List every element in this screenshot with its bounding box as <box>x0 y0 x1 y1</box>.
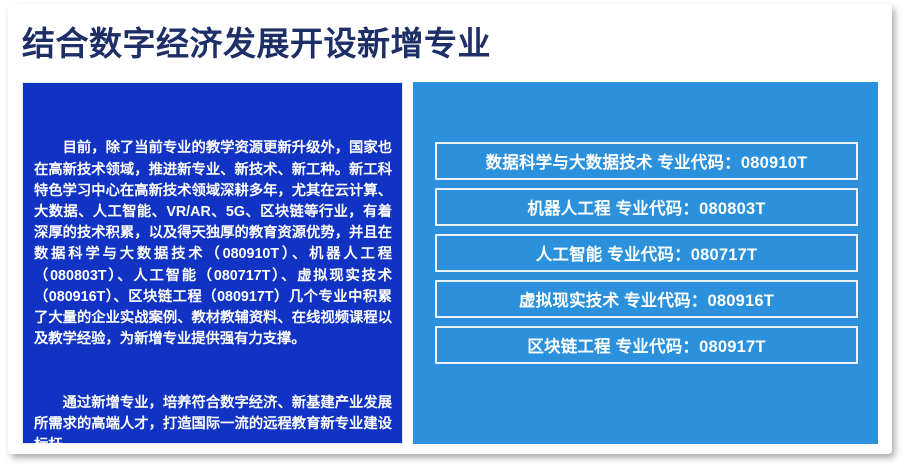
list-item[interactable]: 数据科学与大数据技术 专业代码：080910T <box>435 142 858 180</box>
description-paragraph-1: 目前，除了当前专业的教学资源更新升级外，国家也在高新技术领域，推进新专业、新技术… <box>34 138 392 350</box>
major-item-text: 区块链工程 专业代码：080917T <box>527 333 765 357</box>
list-item[interactable]: 虚拟现实技术 专业代码：080916T <box>435 280 858 318</box>
list-item[interactable]: 人工智能 专业代码：080717T <box>435 234 858 272</box>
major-item-text: 人工智能 专业代码：080717T <box>536 241 758 265</box>
left-description-text: 目前，除了当前专业的教学资源更新升级外，国家也在高新技术领域，推进新专业、新技术… <box>34 96 392 454</box>
page-title: 结合数字经济发展开设新增专业 <box>22 21 742 67</box>
major-item-text: 机器人工程 专业代码：080803T <box>527 195 765 219</box>
major-item-text: 虚拟现实技术 专业代码：080916T <box>519 287 774 311</box>
left-description-panel: 目前，除了当前专业的教学资源更新升级外，国家也在高新技术领域，推进新专业、新技术… <box>22 82 403 444</box>
description-paragraph-2: 通过新增专业，培养符合数字经济、新基建产业发展所需求的高端人才，打造国际一流的远… <box>34 393 392 454</box>
right-major-panel: 数据科学与大数据技术 专业代码：080910T 机器人工程 专业代码：08080… <box>413 82 878 444</box>
list-item[interactable]: 区块链工程 专业代码：080917T <box>435 326 858 364</box>
list-item[interactable]: 机器人工程 专业代码：080803T <box>435 188 858 226</box>
slide-canvas: 结合数字经济发展开设新增专业 目前，除了当前专业的教学资源更新升级外，国家也在高… <box>8 4 892 454</box>
major-list: 数据科学与大数据技术 专业代码：080910T 机器人工程 专业代码：08080… <box>435 142 858 364</box>
major-item-text: 数据科学与大数据技术 专业代码：080910T <box>486 149 808 173</box>
